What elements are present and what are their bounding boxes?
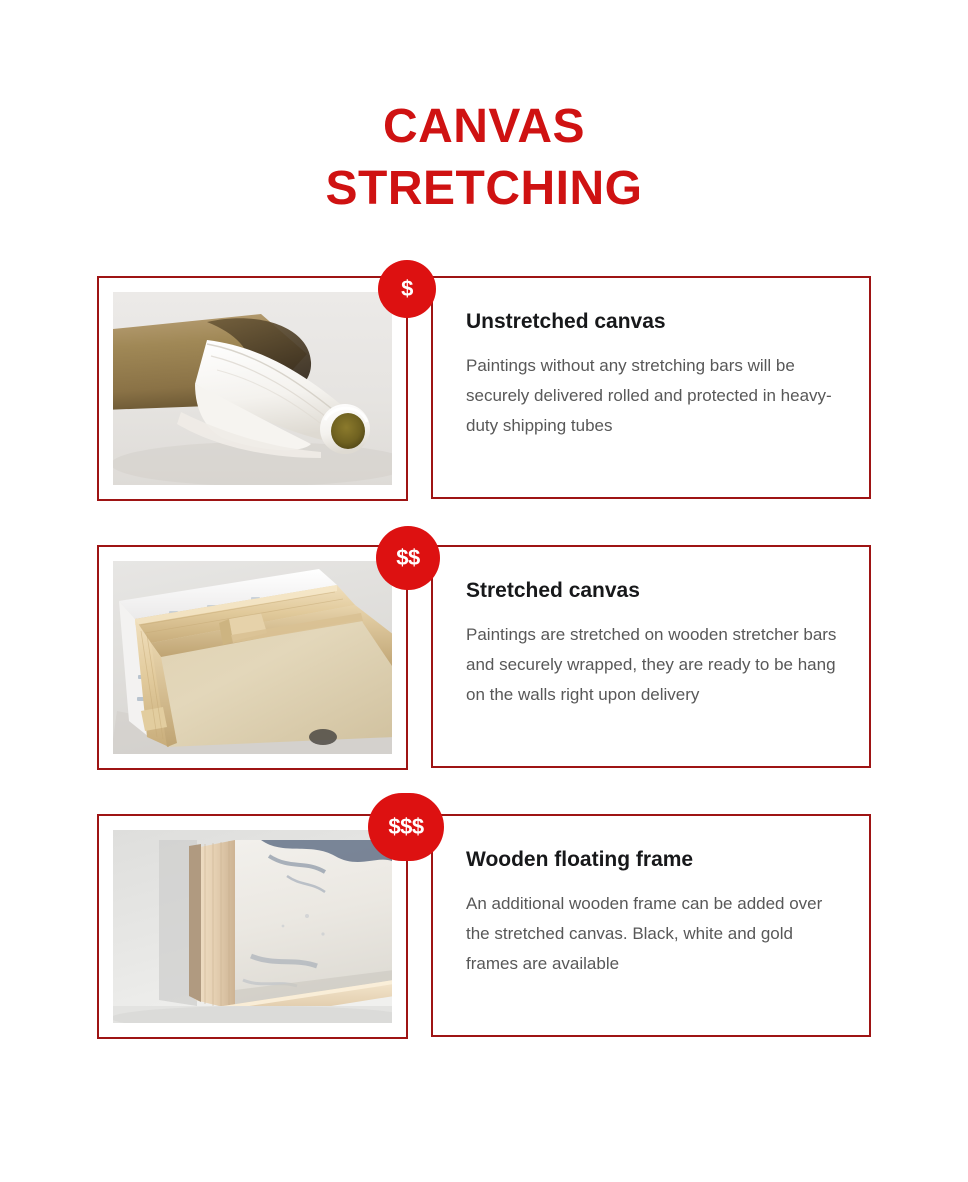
price-badge-unstretched-canvas: $ [378, 260, 436, 318]
text-card-stretched-canvas: Stretched canvas Paintings are stretched… [431, 545, 871, 768]
card-title-wooden-floating-frame: Wooden floating frame [466, 847, 839, 873]
card-body-stretched-canvas: Paintings are stretched on wooden stretc… [466, 620, 839, 710]
option-row-stretched-canvas: $$ [97, 545, 871, 770]
wooden-floating-frame-photo [113, 830, 392, 1023]
option-row-unstretched-canvas: $ [97, 276, 871, 501]
card-title-unstretched-canvas: Unstretched canvas [466, 309, 839, 335]
page-title-line-1: CANVAS [0, 96, 968, 158]
canvas-stretching-infographic: CANVAS STRETCHING $ [0, 0, 968, 1182]
rolled-canvas-in-shipping-tube-photo [113, 292, 392, 485]
text-card-unstretched-canvas: Unstretched canvas Paintings without any… [431, 276, 871, 499]
card-body-wooden-floating-frame: An additional wooden frame can be added … [466, 889, 839, 979]
card-body-unstretched-canvas: Paintings without any stretching bars wi… [466, 351, 839, 441]
media-card-stretched-canvas: $$ [97, 545, 408, 770]
page-title-line-2: STRETCHING [0, 158, 968, 220]
text-card-wooden-floating-frame: Wooden floating frame An additional wood… [431, 814, 871, 1037]
price-badge-wooden-floating-frame: $$$ [368, 793, 444, 861]
stretched-canvas-back-photo [113, 561, 392, 754]
media-card-unstretched-canvas: $ [97, 276, 408, 501]
option-list: $ [0, 276, 968, 1039]
price-badge-stretched-canvas: $$ [376, 526, 440, 590]
page-title: CANVAS STRETCHING [0, 0, 968, 220]
card-title-stretched-canvas: Stretched canvas [466, 578, 839, 604]
media-card-wooden-floating-frame: $$$ [97, 814, 408, 1039]
option-row-wooden-floating-frame: $$$ [97, 814, 871, 1039]
